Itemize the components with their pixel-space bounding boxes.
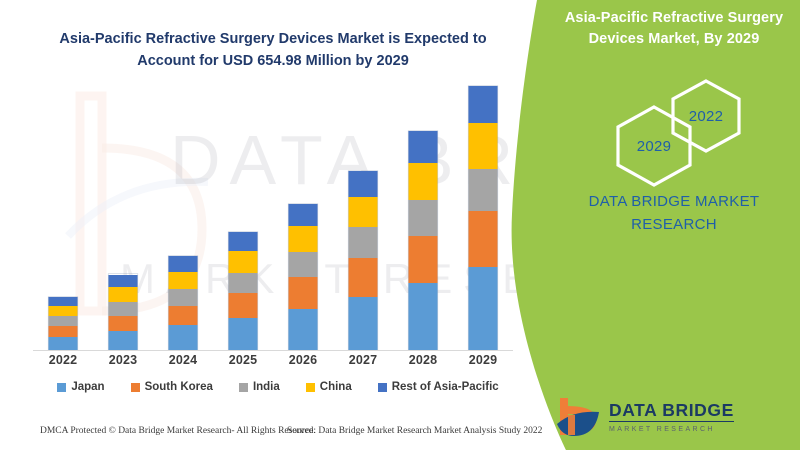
bar-segment-india[interactable] xyxy=(49,316,78,326)
bar-segment-china[interactable] xyxy=(469,123,498,168)
bar-segment-rest-of-asia-pacific[interactable] xyxy=(49,297,78,306)
bar-segment-india[interactable] xyxy=(109,302,138,316)
bar-segment-south-korea[interactable] xyxy=(229,293,258,318)
bar-segment-japan[interactable] xyxy=(289,309,318,350)
chart-category-2026 xyxy=(273,95,333,350)
green-panel-content: Asia-Pacific Refractive Surgery Devices … xyxy=(548,0,800,450)
bar-segment-rest-of-asia-pacific[interactable] xyxy=(469,86,498,123)
hexagon-2029: 2029 xyxy=(612,104,696,188)
legend-label: India xyxy=(253,381,280,393)
panel-title: Asia-Pacific Refractive Surgery Devices … xyxy=(552,8,796,50)
footer: DMCA Protected © Data Bridge Market Rese… xyxy=(0,426,560,446)
footer-dmca-text: DMCA Protected © Data Bridge Market Rese… xyxy=(40,426,316,436)
legend-label: China xyxy=(320,381,352,393)
stacked-bar[interactable] xyxy=(349,171,378,350)
stacked-bar[interactable] xyxy=(109,274,138,350)
bar-segment-india[interactable] xyxy=(349,227,378,257)
bar-segment-rest-of-asia-pacific[interactable] xyxy=(409,131,438,162)
bar-segment-japan[interactable] xyxy=(229,318,258,350)
x-axis-label-2024: 2024 xyxy=(153,353,213,367)
bar-segment-rest-of-asia-pacific[interactable] xyxy=(289,204,318,227)
x-axis-label-2023: 2023 xyxy=(93,353,153,367)
x-axis-label-2029: 2029 xyxy=(453,353,513,367)
legend-item-rest-of-asia-pacific[interactable]: Rest of Asia-Pacific xyxy=(378,381,499,393)
legend-swatch-icon xyxy=(306,383,315,392)
bar-segment-south-korea[interactable] xyxy=(49,326,78,338)
x-axis-label-2022: 2022 xyxy=(33,353,93,367)
panel-brand-text: DATA BRIDGE MARKET RESEARCH xyxy=(558,190,790,236)
hexagon-2029-label: 2029 xyxy=(637,138,672,155)
bar-segment-india[interactable] xyxy=(169,289,198,306)
legend-label: South Korea xyxy=(145,381,213,393)
chart-plot-area xyxy=(33,95,513,350)
bar-segment-japan[interactable] xyxy=(409,283,438,350)
bar-segment-china[interactable] xyxy=(169,272,198,290)
hexagon-group: 2022 2029 xyxy=(606,78,766,188)
stacked-bar[interactable] xyxy=(469,86,498,350)
bar-segment-south-korea[interactable] xyxy=(469,211,498,267)
bar-segment-china[interactable] xyxy=(349,197,378,227)
bar-segment-japan[interactable] xyxy=(469,267,498,350)
db-logo-mark-icon xyxy=(555,395,601,439)
bar-segment-south-korea[interactable] xyxy=(289,277,318,308)
bar-segment-china[interactable] xyxy=(289,226,318,251)
db-logo-tagline: MARKET RESEARCH xyxy=(609,425,734,434)
bar-segment-japan[interactable] xyxy=(109,331,138,350)
db-logo-name: DATA BRIDGE xyxy=(609,401,734,422)
bar-segment-rest-of-asia-pacific[interactable] xyxy=(229,232,258,251)
legend-item-japan[interactable]: Japan xyxy=(57,381,104,393)
legend-swatch-icon xyxy=(378,383,387,392)
stacked-bar-chart xyxy=(33,95,513,351)
legend-item-india[interactable]: India xyxy=(239,381,280,393)
bar-segment-rest-of-asia-pacific[interactable] xyxy=(109,275,138,288)
bar-segment-china[interactable] xyxy=(409,163,438,200)
db-logo-text: DATA BRIDGE MARKET RESEARCH xyxy=(609,401,734,434)
bar-segment-south-korea[interactable] xyxy=(169,306,198,326)
x-axis-label-2027: 2027 xyxy=(333,353,393,367)
bar-segment-south-korea[interactable] xyxy=(349,258,378,297)
chart-category-2025 xyxy=(213,95,273,350)
stacked-bar[interactable] xyxy=(169,256,198,350)
stacked-bar[interactable] xyxy=(49,297,78,350)
stacked-bar[interactable] xyxy=(409,131,438,350)
x-axis-label-2028: 2028 xyxy=(393,353,453,367)
legend-item-china[interactable]: China xyxy=(306,381,352,393)
stacked-bar[interactable] xyxy=(289,204,318,350)
page-title: Asia-Pacific Refractive Surgery Devices … xyxy=(38,28,508,72)
bar-segment-japan[interactable] xyxy=(49,337,78,350)
market-infographic-page: DATA BRIDGE MARKET RESEARCH Asia-Pacific… xyxy=(0,0,800,450)
chart-category-2027 xyxy=(333,95,393,350)
bar-segment-india[interactable] xyxy=(409,200,438,236)
chart-category-2024 xyxy=(153,95,213,350)
bar-segment-japan[interactable] xyxy=(169,325,198,350)
bar-segment-india[interactable] xyxy=(229,273,258,294)
footer-source-text: Source: Data Bridge Market Research Mark… xyxy=(287,426,542,436)
bar-segment-south-korea[interactable] xyxy=(409,236,438,283)
stacked-bar[interactable] xyxy=(229,232,258,350)
data-bridge-logo: DATA BRIDGE MARKET RESEARCH xyxy=(555,393,785,441)
x-axis-label-2026: 2026 xyxy=(273,353,333,367)
legend-swatch-icon xyxy=(57,383,66,392)
bar-segment-rest-of-asia-pacific[interactable] xyxy=(169,256,198,272)
bar-segment-south-korea[interactable] xyxy=(109,316,138,332)
legend-swatch-icon xyxy=(239,383,248,392)
chart-category-2029 xyxy=(453,95,513,350)
x-axis-label-2025: 2025 xyxy=(213,353,273,367)
legend-item-south-korea[interactable]: South Korea xyxy=(131,381,213,393)
chart-category-2023 xyxy=(93,95,153,350)
bar-segment-china[interactable] xyxy=(49,306,78,316)
bar-segment-japan[interactable] xyxy=(349,297,378,350)
legend-label: Rest of Asia-Pacific xyxy=(392,381,499,393)
bar-segment-india[interactable] xyxy=(289,252,318,277)
chart-legend: JapanSouth KoreaIndiaChinaRest of Asia-P… xyxy=(33,381,523,393)
chart-category-2028 xyxy=(393,95,453,350)
bar-segment-china[interactable] xyxy=(109,287,138,302)
legend-swatch-icon xyxy=(131,383,140,392)
bar-segment-india[interactable] xyxy=(469,169,498,211)
chart-category-2022 xyxy=(33,95,93,350)
x-axis-labels: 20222023202420252026202720282029 xyxy=(33,353,513,367)
bar-segment-rest-of-asia-pacific[interactable] xyxy=(349,171,378,197)
x-axis-line xyxy=(33,350,513,351)
legend-label: Japan xyxy=(71,381,104,393)
bar-segment-china[interactable] xyxy=(229,251,258,273)
